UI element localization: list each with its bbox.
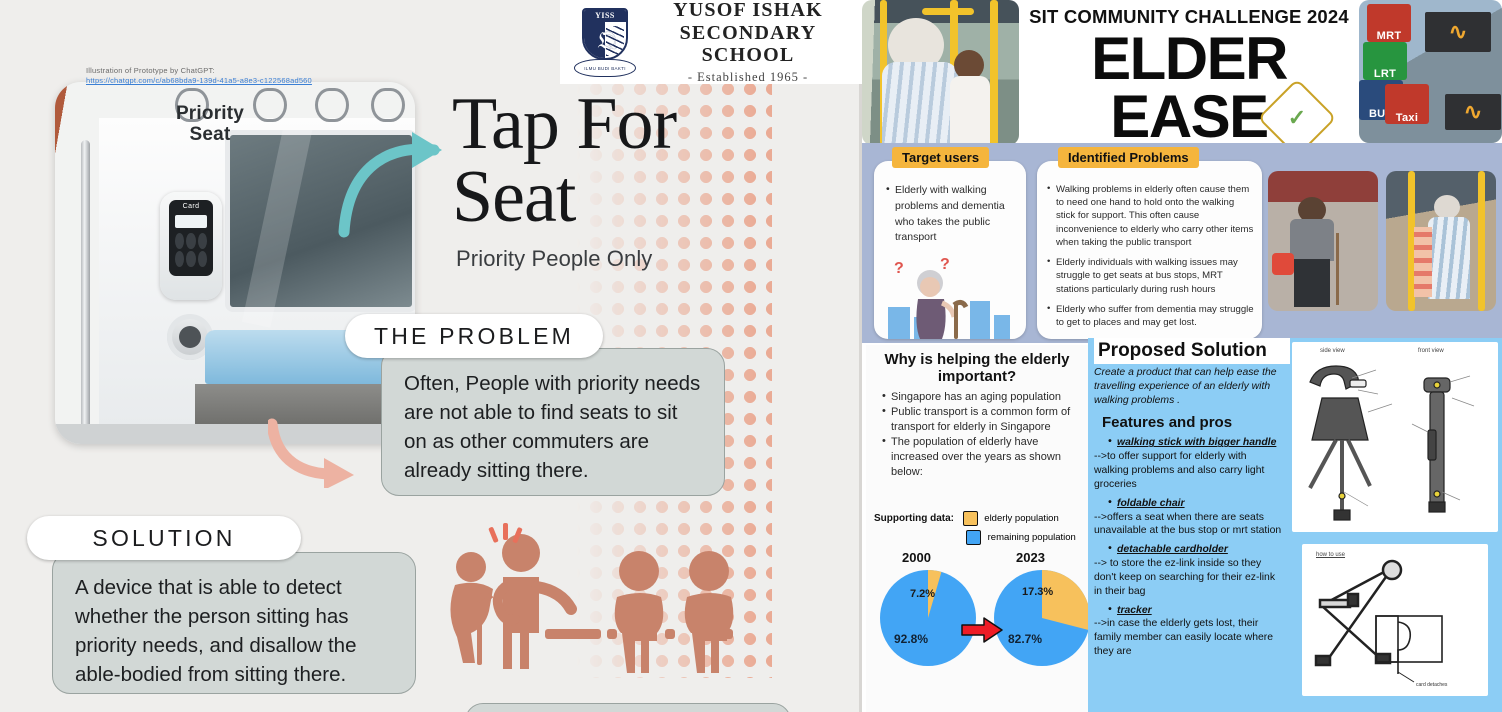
list-item: Walking problems in elderly often cause … xyxy=(1047,183,1254,249)
svg-text:?: ? xyxy=(940,256,950,273)
feature-desc: -->offers a seat when there are seats un… xyxy=(1094,511,1284,539)
proposed-solution-title: Proposed Solution xyxy=(1094,338,1290,364)
feature-name: foldable chair xyxy=(1108,497,1284,511)
left-poster-tap-for-seat: YISS 𝔔 ILMU BUDI BAKTI YUSOF ISHAK SECON… xyxy=(0,0,862,712)
identified-problems-list: Walking problems in elderly often cause … xyxy=(1037,161,1262,329)
grab-pole xyxy=(81,140,90,440)
legend-label-remaining: remaining population xyxy=(988,532,1076,543)
poster-title-line1: Tap For xyxy=(452,83,676,165)
list-item: The population of elderly have increased… xyxy=(882,435,1080,481)
features-heading: Features and pros xyxy=(1102,413,1284,433)
feature-name: walking stick with bigger handle xyxy=(1108,436,1284,450)
elderly-man-on-bus-photo xyxy=(1386,171,1496,311)
target-users-card: Elderly with walking problems and dement… xyxy=(874,161,1026,339)
problems-band: Target users Elderly with walking proble… xyxy=(862,143,1502,343)
right-poster-elder-ease: SIT COMMUNITY CHALLENGE 2024 ELDER EASE … xyxy=(862,0,1502,712)
school-crest-icon: YISS 𝔔 ILMU BUDI BAKTI xyxy=(574,5,636,79)
people-pictogram-illustration xyxy=(425,505,760,680)
device-brand-label: Card xyxy=(169,203,213,210)
chart-title-2000: 2000 xyxy=(902,550,931,565)
feature-name: detachable cardholder xyxy=(1108,543,1284,557)
why-section-title: Why is helping the elderly important? xyxy=(866,345,1088,386)
supporting-data-label: Supporting data: xyxy=(874,513,954,524)
crest-initials: YISS xyxy=(584,10,626,22)
sketch-label-front-view: front view xyxy=(1418,348,1444,354)
proposed-solution-intro: Create a product that can help ease the … xyxy=(1094,366,1284,407)
poster-title: Tap For Seat xyxy=(452,88,782,235)
population-pie-charts: 2000 2023 7.2% 92.8% 17.3% 82.7% xyxy=(866,550,1088,710)
pie-label-2000-elderly: 7.2% xyxy=(910,588,935,600)
smrt-logo-bottom: ∿ xyxy=(1445,94,1501,130)
elderly-with-cane-figure xyxy=(450,552,493,665)
school-name-line2: SECONDARY SCHOOL xyxy=(644,22,852,67)
device-keypad[interactable] xyxy=(175,233,207,267)
priority-seat-label: Priority Seat xyxy=(155,104,265,145)
pie-chart-2023 xyxy=(992,568,1092,668)
bus-interior-photo xyxy=(862,0,1019,145)
feature-item: walking stick with bigger handle -->to o… xyxy=(1094,436,1284,491)
list-item: Public transport is a common form of tra… xyxy=(882,405,1080,435)
anger-marks-icon xyxy=(488,523,523,544)
identified-problems-tag: Identified Problems xyxy=(1058,147,1199,168)
problem-text-box: Often, People with priority needs are no… xyxy=(381,348,725,496)
why-help-elderly-card: Why is helping the elderly important? Si… xyxy=(866,345,1088,712)
prototype-credit-link[interactable]: https://chatgpt.com/c/ab68bda9-139d-41a5… xyxy=(86,76,312,85)
peach-curved-arrow-icon xyxy=(268,418,368,488)
proposed-solution-panel: Proposed Solution Create a product that … xyxy=(1088,338,1502,712)
prototype-credit: Illustration of Prototype by ChatGPT: ht… xyxy=(86,66,416,86)
school-established: - Established 1965 - xyxy=(644,70,852,85)
smrt-logo-top: ∿ xyxy=(1425,12,1491,52)
school-header: YISS 𝔔 ILMU BUDI BAKTI YUSOF ISHAK SECON… xyxy=(560,0,862,84)
feature-item: tracker -->in case the elderly gets lost… xyxy=(1094,604,1284,659)
walking-stick-sketch-drawing xyxy=(1292,342,1498,532)
poster-title-line2: Seat xyxy=(452,156,575,238)
tap-device[interactable]: Card xyxy=(160,192,222,300)
seated-person-figure-2 xyxy=(685,551,734,673)
solution-pill-label: SOLUTION xyxy=(27,516,301,560)
bench-seat-bar xyxy=(545,629,601,639)
feature-item: foldable chair -->offers a seat when the… xyxy=(1094,497,1284,538)
seated-person-figure-1 xyxy=(615,551,664,673)
lrt-sign-icon: LRT xyxy=(1363,42,1407,80)
school-name-line1: YUSOF ISHAK xyxy=(644,0,852,22)
feature-desc: -->in case the elderly gets lost, their … xyxy=(1094,617,1284,658)
bottom-partial-box xyxy=(465,703,791,712)
identified-problems-card: Walking problems in elderly often cause … xyxy=(1037,161,1262,339)
crest-ribbon-motto: ILMU BUDI BAKTI xyxy=(574,59,636,77)
teal-curved-arrow-icon xyxy=(338,128,456,238)
red-arrow-icon xyxy=(960,615,1004,645)
list-item: Elderly individuals with walking issues … xyxy=(1047,256,1254,296)
prototype-credit-label: Illustration of Prototype by ChatGPT: xyxy=(86,66,416,76)
feature-name: tracker xyxy=(1108,604,1284,618)
legend-swatch-remaining xyxy=(966,530,981,545)
chart-title-2023: 2023 xyxy=(1016,550,1045,565)
feature-item: detachable cardholder --> to store the e… xyxy=(1094,543,1284,598)
list-item: Elderly with walking problems and dement… xyxy=(886,183,1016,246)
pie-label-2023-elderly: 17.3% xyxy=(1022,586,1053,598)
product-design-sketch: side view front view xyxy=(1292,342,1498,532)
chart-legend: Supporting data: elderly population rema… xyxy=(874,511,1084,545)
pie-label-2023-remaining: 82.7% xyxy=(1008,632,1042,646)
svg-text:card detaches: card detaches xyxy=(1416,682,1448,688)
foldable-chair-usage-drawing: card detaches xyxy=(1302,544,1488,696)
poster-subtitle: Priority People Only xyxy=(456,246,652,272)
target-users-tag: Target users xyxy=(892,147,989,168)
elderly-man-walking-stick-photo xyxy=(1268,171,1378,311)
list-item: Elderly who suffer from dementia may str… xyxy=(1047,303,1254,329)
how-to-use-sketch: how to use card detaches xyxy=(1302,544,1488,696)
feature-desc: --> to store the ez-link inside so they … xyxy=(1094,557,1284,598)
list-item: Singapore has an aging population xyxy=(882,390,1080,405)
sketch-label-how-to-use: how to use xyxy=(1316,552,1345,558)
pie-label-2000-remaining: 92.8% xyxy=(894,632,928,646)
taxi-sign-icon: Taxi xyxy=(1385,84,1429,124)
why-section-list: Singapore has an aging population Public… xyxy=(866,386,1088,481)
mrt-sign-icon: MRT xyxy=(1367,4,1411,42)
standing-person-pointing-figure xyxy=(498,534,571,669)
legend-label-elderly: elderly population xyxy=(984,513,1058,524)
elderly-woman-illustration: ?? xyxy=(888,253,1012,339)
transport-signage-photo: MRT LRT BUS Taxi ∿ ∿ xyxy=(1359,0,1502,143)
problem-pill-label: THE PROBLEM xyxy=(345,314,603,358)
solution-text-box: A device that is able to detect whether … xyxy=(52,552,416,694)
device-lcd-screen xyxy=(175,215,207,228)
svg-text:?: ? xyxy=(894,260,904,277)
legend-swatch-elderly xyxy=(963,511,978,526)
poster-header-band: SIT COMMUNITY CHALLENGE 2024 ELDER EASE … xyxy=(1019,0,1359,152)
sketch-label-side-view: side view xyxy=(1320,348,1345,354)
feature-desc: -->to offer support for elderly with wal… xyxy=(1094,450,1284,491)
target-users-list: Elderly with walking problems and dement… xyxy=(874,161,1026,246)
